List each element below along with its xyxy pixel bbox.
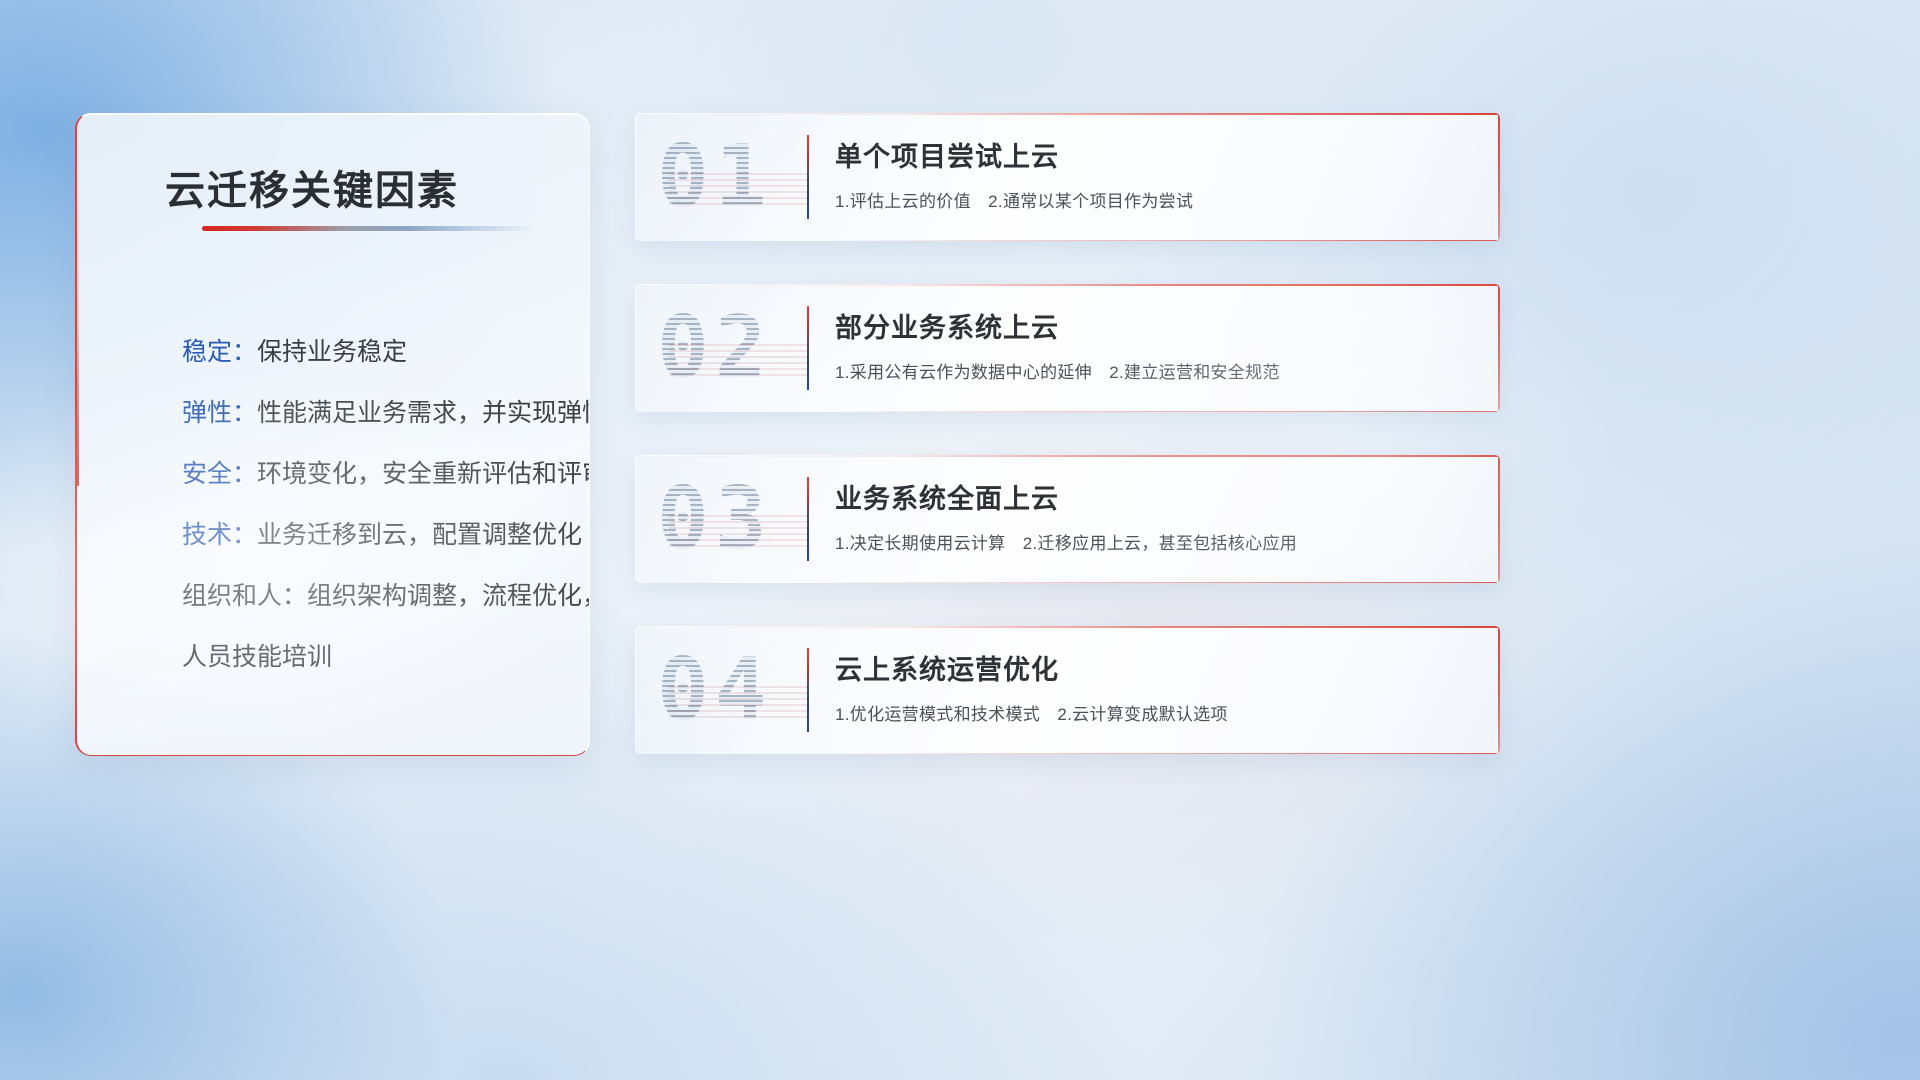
card-right-accent-line [1498,113,1500,241]
card-right-accent-line [1498,284,1500,412]
list-item-text: 性能满足业务需求，并实现弹性 [257,399,590,427]
list-item-key: 安全： [182,460,257,488]
list-item-text: 组织架构调整，流程优化， [307,582,590,610]
card-bottom-accent-line [825,240,1500,241]
card-divider-bar [807,306,809,390]
card-subtitle: 1.优化运营模式和技术模式 2.云计算变成默认选项 [835,700,1228,725]
list-item-continuation: 人员技能培训 [182,627,582,688]
list-item-text: 人员技能培训 [182,643,332,671]
card-right-accent-line [1498,455,1500,583]
list-item-text: 保持业务稳定 [257,338,407,366]
list-item-key: 组织和人： [182,582,307,610]
step-number-watermark: 01 [657,127,847,227]
card-divider-bar [807,135,809,219]
card-divider-bar [807,648,809,732]
card-left-edge [635,455,636,583]
list-item: 技术：业务迁移到云，配置调整优化 [182,505,582,566]
list-item-text: 业务迁移到云，配置调整优化 [257,521,582,549]
list-item-key: 弹性： [182,399,257,427]
card-divider-bar [807,477,809,561]
card-title: 单个项目尝试上云 [835,135,1059,174]
step-card[interactable]: 02 02 部分业务系统上云 1.采用公有云作为数据中心的延伸 2.建立运营和安… [635,284,1500,412]
step-number-watermark: 02 [657,298,847,398]
key-factors-panel: 云迁移关键因素 稳定：保持业务稳定 弹性：性能满足业务需求，并实现弹性 安全：环… [75,113,590,756]
card-left-edge [635,284,636,412]
list-item: 安全：环境变化，安全重新评估和评审 [182,444,582,505]
card-left-edge [635,113,636,241]
list-item-key: 技术： [182,521,257,549]
card-left-edge [635,626,636,754]
panel-title: 云迁移关键因素 [165,158,459,216]
card-bottom-accent-line [825,411,1500,412]
card-subtitle: 1.采用公有云作为数据中心的延伸 2.建立运营和安全规范 [835,358,1280,383]
card-top-accent-line [635,455,1500,457]
card-bottom-accent-line [825,582,1500,583]
list-item: 弹性：性能满足业务需求，并实现弹性 [182,383,582,444]
list-item: 组织和人：组织架构调整，流程优化， [182,566,582,627]
list-item: 稳定：保持业务稳定 [182,322,582,383]
step-card[interactable]: 01 01 单个项目尝试上云 1.评估上云的价值 2.通常以某个项目作为尝试 [635,113,1500,241]
card-top-accent-line [635,284,1500,286]
card-right-accent-line [1498,626,1500,754]
step-card[interactable]: 04 04 云上系统运营优化 1.优化运营模式和技术模式 2.云计算变成默认选项 [635,626,1500,754]
card-title: 部分业务系统上云 [835,306,1059,345]
step-number-watermark: 03 [657,469,847,569]
card-title: 业务系统全面上云 [835,477,1059,516]
card-bottom-accent-line [825,753,1500,754]
key-factors-list: 稳定：保持业务稳定 弹性：性能满足业务需求，并实现弹性 安全：环境变化，安全重新… [182,322,582,688]
slide-canvas: 云迁移关键因素 稳定：保持业务稳定 弹性：性能满足业务需求，并实现弹性 安全：环… [0,0,1920,1080]
title-underline-rule [202,226,532,231]
card-title: 云上系统运营优化 [835,648,1059,687]
list-item-text: 环境变化，安全重新评估和评审 [257,460,590,488]
card-subtitle: 1.评估上云的价值 2.通常以某个项目作为尝试 [835,187,1193,212]
card-top-accent-line [635,626,1500,628]
list-item-key: 稳定： [182,338,257,366]
step-number-watermark: 04 [657,640,847,740]
card-subtitle: 1.决定长期使用云计算 2.迁移应用上云，甚至包括核心应用 [835,529,1297,554]
step-card[interactable]: 03 03 业务系统全面上云 1.决定长期使用云计算 2.迁移应用上云，甚至包括… [635,455,1500,583]
card-top-accent-line [635,113,1500,115]
